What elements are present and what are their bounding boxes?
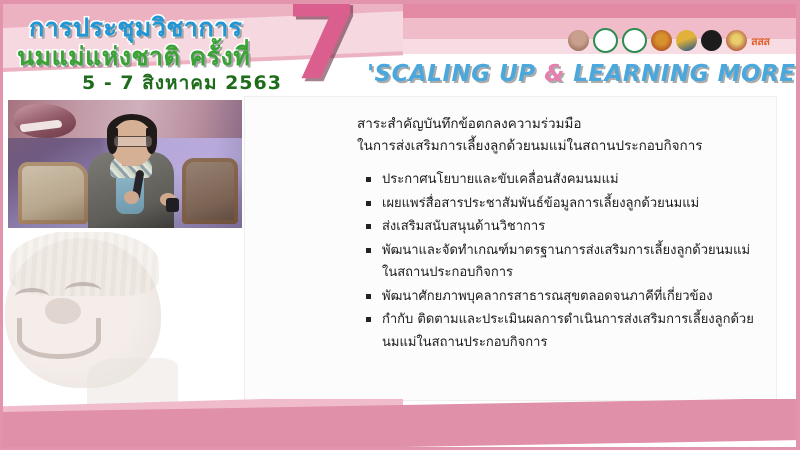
child-teeth <box>33 330 73 341</box>
bullet-square-icon <box>366 248 371 253</box>
speaker-hand-left <box>124 191 139 204</box>
content-heading: สาระสำคัญบันทึกข้อตกลงความร่วมมือ ในการส… <box>357 113 757 157</box>
chair-left <box>18 162 88 224</box>
red-crest-logo <box>726 30 747 51</box>
list-item: เผยแพร่สื่อสารประชาสัมพันธ์ข้อมูลการเลี้… <box>365 193 765 216</box>
conference-date: 5 - 7 สิงหาคม 2563 <box>82 68 282 96</box>
health-department-logo <box>622 28 647 53</box>
list-item: กำกับ ติดตามและประเมินผลการดำเนินการส่งเ… <box>365 309 765 354</box>
ministry-public-health-logo <box>593 28 618 53</box>
bullet-square-icon <box>366 201 371 206</box>
tagline-suffix: LEARNING MORE' <box>565 61 796 87</box>
list-item: พัฒนาและจัดทำเกณฑ์มาตรฐานการส่งเสริมการเ… <box>365 240 765 285</box>
conference-tagline: 'SCALING UP & LEARNING MORE' <box>367 61 796 87</box>
frame-border-right <box>796 0 800 450</box>
university-seal-logo <box>701 30 722 51</box>
content-bullet-list: ประกาศนโยบายและขับเคลื่อนสังคมนมแม่ เผยแ… <box>365 169 765 355</box>
list-item-label: ประกาศนโยบายและขับเคลื่อนสังคมนมแม่ <box>382 172 619 187</box>
bullet-square-icon <box>366 317 371 322</box>
slide-footer-band <box>3 399 796 447</box>
speaker-video-frame[interactable] <box>8 100 242 228</box>
thaihealth-sss-logo: สสส <box>751 32 770 50</box>
list-item: ประกาศนโยบายและขับเคลื่อนสังคมนมแม่ <box>365 169 765 192</box>
royal-emblem-logo <box>568 30 589 51</box>
content-panel: สาระสำคัญบันทึกข้อตกลงความร่วมมือ ในการส… <box>244 96 777 401</box>
content-heading-line-1: สาระสำคัญบันทึกข้อตกลงความร่วมมือ <box>357 113 757 135</box>
content-heading-line-2: ในการส่งเสริมการเลี้ยงลูกด้วยนมแม่ในสถาน… <box>357 135 757 157</box>
edition-number: 7 <box>286 4 356 94</box>
speaker-glasses <box>114 136 152 147</box>
child-eye-right <box>65 282 101 299</box>
garuda-emblem-logo <box>676 30 697 51</box>
tagline-ampersand: & <box>544 61 565 87</box>
organization-logo-row: สสส <box>568 28 770 53</box>
smiling-child-photo <box>3 232 178 415</box>
list-item-label: ส่งเสริมสนับสนุนด้านวิชาการ <box>382 219 545 234</box>
presentation-slide: 7 การประชุมวิชาการ นมแม่แห่งชาติ ครั้งที… <box>0 0 800 450</box>
chair-right <box>182 158 238 224</box>
presentation-clicker <box>166 198 179 212</box>
list-item: ส่งเสริมสนับสนุนด้านวิชาการ <box>365 216 765 239</box>
bullet-square-icon <box>366 224 371 229</box>
bullet-square-icon <box>366 177 371 182</box>
list-item-label: พัฒนาและจัดทำเกณฑ์มาตรฐานการส่งเสริมการเ… <box>382 243 750 281</box>
list-item-label: กำกับ ติดตามและประเมินผลการดำเนินการส่งเ… <box>382 312 754 350</box>
bullet-square-icon <box>366 294 371 299</box>
tagline-prefix: 'SCALING UP <box>367 61 544 87</box>
list-item-label: พัฒนาศักยภาพบุคลากรสาธารณสุขตลอดจนภาคีที… <box>382 289 713 304</box>
slide-header-banner: 7 การประชุมวิชาการ นมแม่แห่งชาติ ครั้งที… <box>3 4 796 96</box>
list-item-label: เผยแพร่สื่อสารประชาสัมพันธ์ข้อมูลการเลี้… <box>382 196 699 211</box>
child-eye-left <box>15 288 49 305</box>
royal-crest-logo <box>651 30 672 51</box>
list-item: พัฒนาศักยภาพบุคลากรสาธารณสุขตลอดจนภาคีที… <box>365 286 765 309</box>
